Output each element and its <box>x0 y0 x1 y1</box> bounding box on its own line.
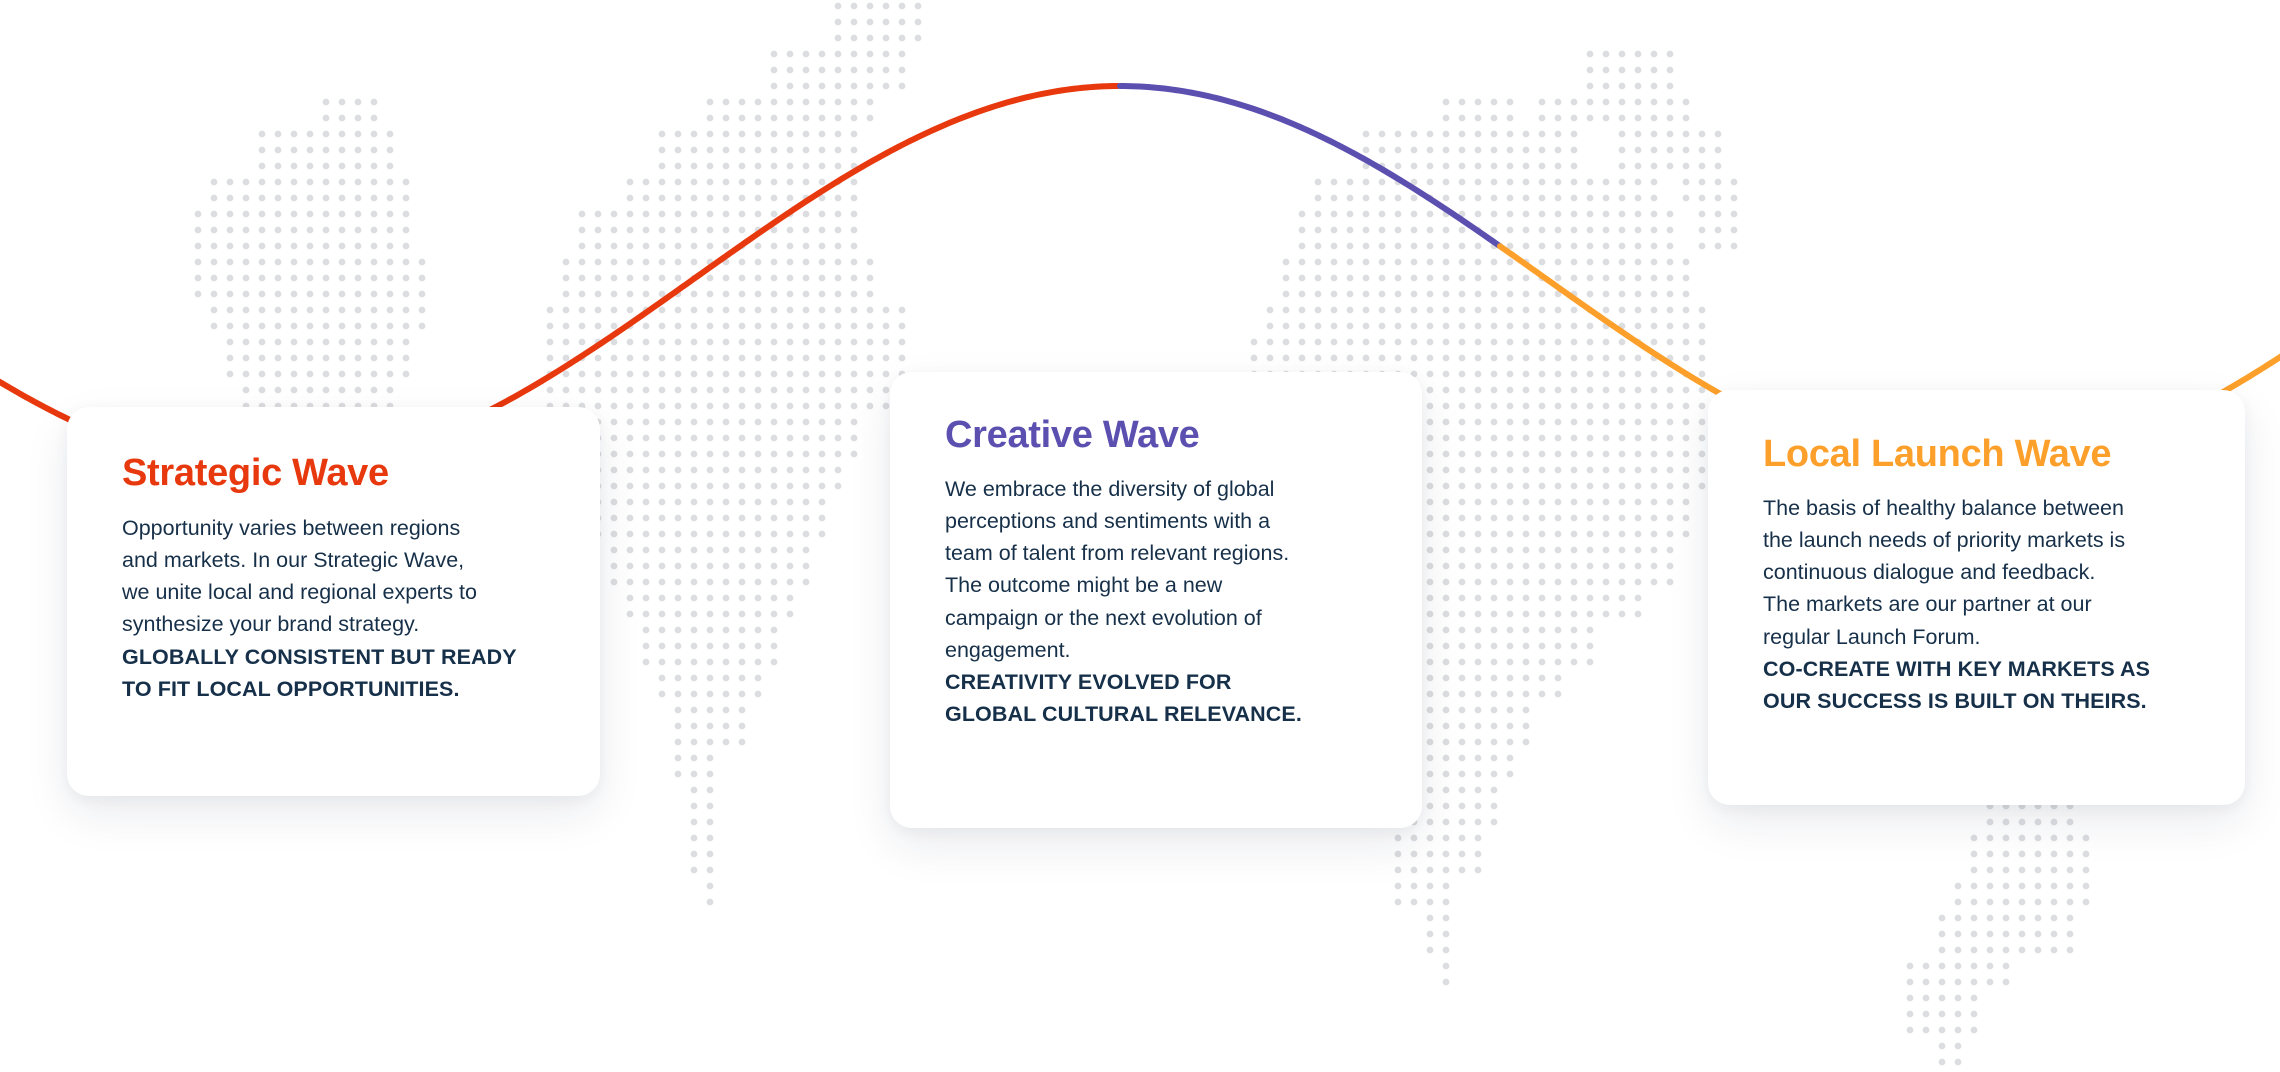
card-body-creative-wave: We embrace the diversity of global perce… <box>945 473 1367 667</box>
card-body-local-launch-wave: The basis of healthy balance between the… <box>1763 492 2190 653</box>
card-strategic-wave: Strategic Wave Opportunity varies betwee… <box>67 407 600 796</box>
creative-wave-curve <box>1120 86 1500 246</box>
card-creative-wave: Creative Wave We embrace the diversity o… <box>890 372 1422 828</box>
card-body-strategic-wave: Opportunity varies between regions and m… <box>122 512 545 641</box>
card-local-launch-wave: Local Launch Wave The basis of healthy b… <box>1708 390 2245 805</box>
card-title-strategic-wave: Strategic Wave <box>122 452 545 495</box>
card-emphasis-creative-wave: CREATIVITY EVOLVED FOR GLOBAL CULTURAL R… <box>945 666 1367 731</box>
card-emphasis-local-launch-wave: CO-CREATE WITH KEY MARKETS AS OUR SUCCES… <box>1763 653 2190 718</box>
card-title-creative-wave: Creative Wave <box>945 414 1367 457</box>
card-title-local-launch-wave: Local Launch Wave <box>1763 433 2190 476</box>
card-emphasis-strategic-wave: GLOBALLY CONSISTENT BUT READY TO FIT LOC… <box>122 641 545 706</box>
wave-process-infographic: Strategic Wave Opportunity varies betwee… <box>0 0 2280 1072</box>
